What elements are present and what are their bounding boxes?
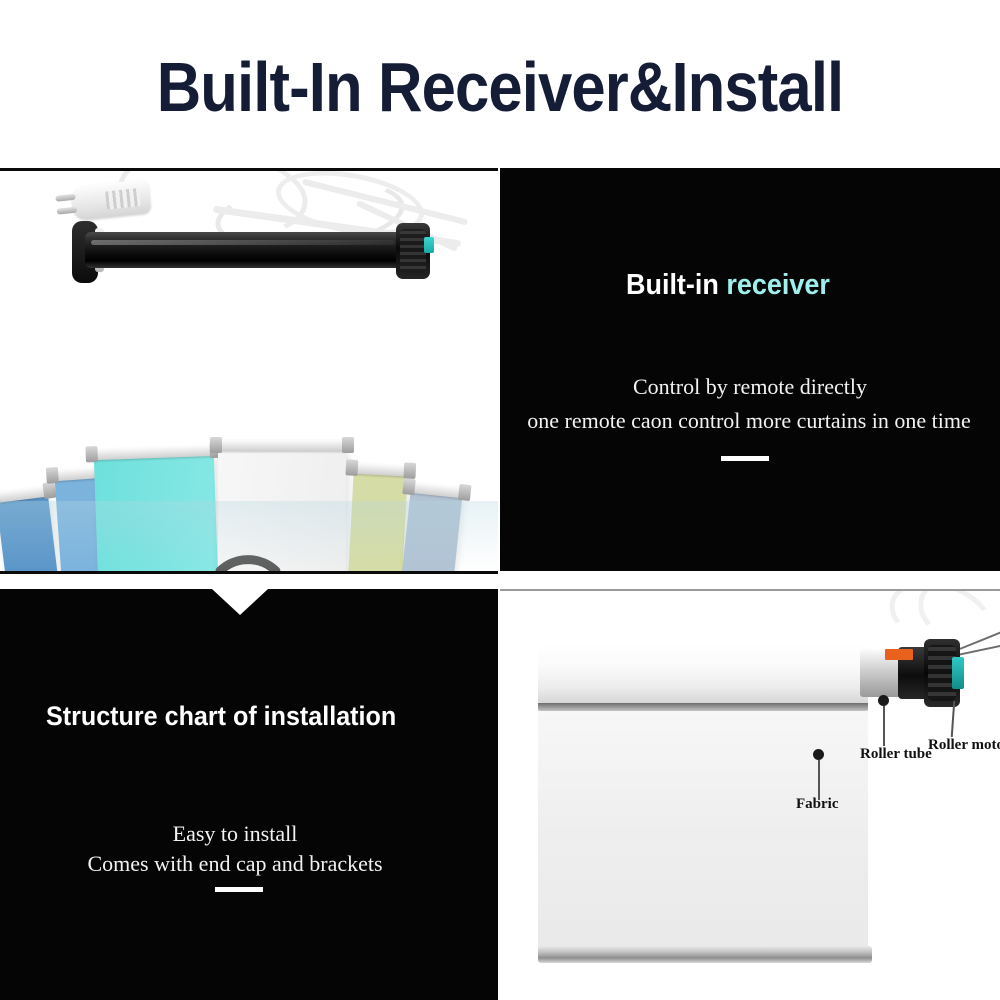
blind-end-cap-right xyxy=(342,437,354,453)
motor-brand-label xyxy=(885,649,913,660)
blind-rail xyxy=(214,440,350,451)
roller-blind-fabric xyxy=(538,711,868,956)
notch-triangle-icon xyxy=(212,589,268,615)
roller-blind-sample xyxy=(94,454,222,574)
receiver-heading-plain: Built-in xyxy=(626,269,726,301)
blind-end-cap-right xyxy=(458,484,472,501)
blind-end-cap-left xyxy=(85,446,98,462)
structure-body-line-2: Comes with end cap and brackets xyxy=(0,847,470,881)
callout-roller-tube-label: Roller tube xyxy=(860,746,932,763)
infographic-page: Built-In Receiver&Install xyxy=(0,0,1000,1000)
blind-end-cap-left xyxy=(345,459,358,476)
callout-roller-motor-label: Roller motor xyxy=(928,737,1000,754)
blind-rail xyxy=(90,445,218,460)
callout-line-roller-tube xyxy=(883,706,885,746)
roller-tube-body xyxy=(538,643,868,706)
callout-fabric-label: Fabric xyxy=(796,796,839,813)
installation-diagram-stage: Fabric Roller tube Roller motor xyxy=(500,591,1000,1000)
roller-blind-bottom-rail xyxy=(538,946,872,963)
divider-rule xyxy=(721,456,769,461)
blind-end-cap-left xyxy=(210,437,222,453)
receiver-body-line-1: Control by remote directly xyxy=(500,370,1000,404)
callout-dot-fabric xyxy=(813,749,824,760)
structure-heading: Structure chart of installation xyxy=(46,699,396,733)
roller-motor-teal-connector xyxy=(952,657,964,689)
tubular-motor-body xyxy=(85,232,405,268)
structure-body-line-1: Easy to install xyxy=(0,817,470,851)
blind-end-cap-left xyxy=(46,467,59,484)
wifi-icon xyxy=(214,553,282,574)
plug-ridges xyxy=(105,188,141,209)
panel-top-left-product-photo: ‹ › ▲ ■ ▼ xyxy=(0,168,498,574)
panel-bottom-left-structure-info: Structure chart of installation Easy to … xyxy=(0,589,498,1000)
panel-bottom-right-installation-diagram: Fabric Roller tube Roller motor xyxy=(500,589,1000,1000)
receiver-body-line-2: one remote caon control more curtains in… xyxy=(500,404,1000,438)
product-photo-stage: ‹ › ▲ ■ ▼ xyxy=(0,171,498,571)
callout-dot-roller-tube xyxy=(878,695,889,706)
callout-line-fabric xyxy=(818,760,820,800)
roller-blind-sample xyxy=(342,472,407,574)
blind-end-cap-right xyxy=(403,462,416,479)
blind-end-cap-left xyxy=(402,478,416,495)
receiver-heading-accent: receiver xyxy=(726,269,829,301)
panel-top-right-receiver-info: Built-in receiver Control by remote dire… xyxy=(500,168,1000,571)
divider-rule xyxy=(215,887,263,892)
receiver-heading: Built-in receiver xyxy=(626,268,830,302)
motor-teal-connector xyxy=(424,237,434,253)
page-title: Built-In Receiver&Install xyxy=(60,48,940,126)
